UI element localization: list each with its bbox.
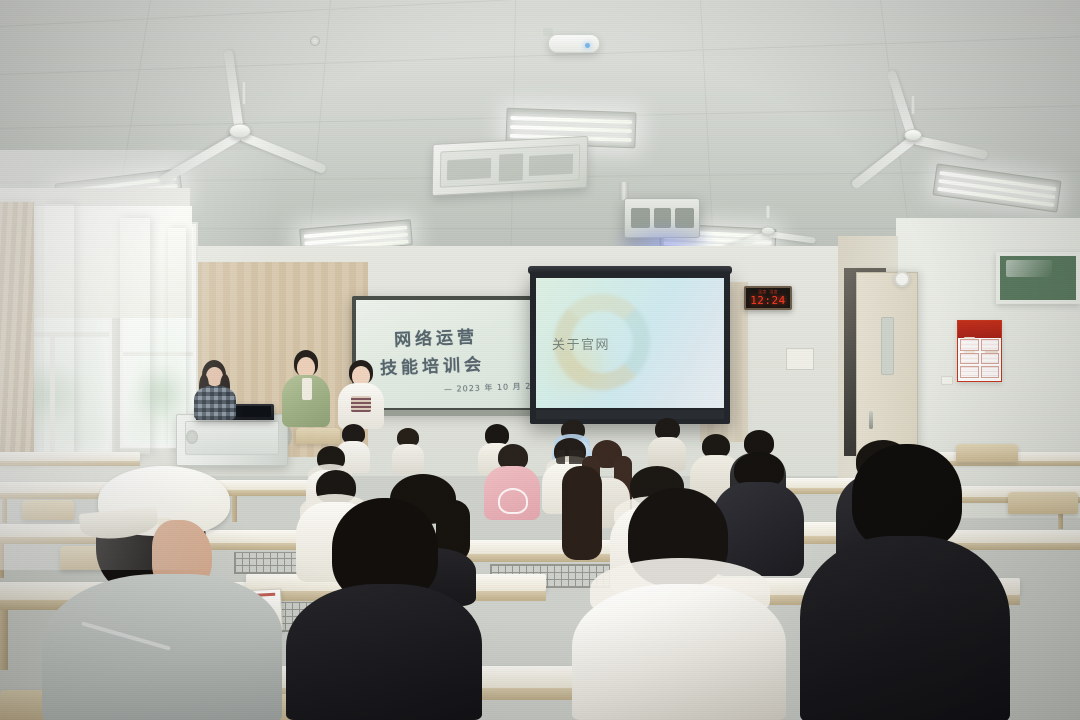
ceiling-fan-left [150, 96, 330, 166]
poster-cell [981, 339, 1000, 351]
student-back-2 [392, 428, 424, 472]
sweatshirt-graphic [351, 396, 371, 412]
light-switch[interactable] [941, 376, 953, 385]
student-row2-pink [484, 444, 540, 518]
notice-frame [786, 348, 814, 370]
student-black-jacket [286, 584, 482, 720]
projected-slide: 关于官网 [536, 278, 724, 408]
classroom-scene: 网络运营 技能培训会 — 2023 年 10 月 23 日 关于官网 温度 湿度… [0, 0, 1080, 720]
led-clock-top-label: 温度 湿度 [749, 289, 787, 295]
classroom-door[interactable] [856, 272, 918, 462]
poster-cell [960, 366, 979, 378]
curtain-left-inner[interactable] [120, 218, 150, 454]
wall-schedule-poster [957, 320, 1002, 382]
wall-clock [894, 271, 910, 287]
student-foreground-black-left [286, 498, 482, 720]
student-white-hoodie-body [572, 584, 786, 720]
podium-speaker [186, 430, 198, 444]
whiteboard-line-2: 技能培训会 [380, 350, 486, 379]
ac-cassette-unit [432, 136, 589, 196]
ceiling-fan-right [838, 106, 988, 164]
curtain-left-middle[interactable] [44, 204, 74, 456]
sprinkler-head [310, 36, 320, 46]
student-right-hair [852, 444, 962, 550]
led-clock-time: 12:24 [750, 295, 786, 306]
door-window [881, 317, 894, 375]
wifi-status-led [585, 43, 590, 48]
presenter-torso-plaid [194, 386, 236, 420]
ceiling-fan-center [718, 214, 818, 248]
curtain-left-outer[interactable] [0, 202, 34, 464]
student-right-jacket [800, 536, 1010, 720]
pink-top-graphic [498, 488, 528, 514]
poster-cell [981, 366, 1000, 378]
student-foreground-cap [42, 466, 282, 720]
poster-cell [981, 353, 1000, 365]
student-foreground-black-right [800, 444, 1010, 720]
poster-cell [960, 339, 979, 351]
presenter-right [338, 360, 384, 428]
student-foreground-white-hoodie [572, 488, 786, 720]
chair-right-mid [1008, 492, 1078, 520]
student-back-5 [648, 418, 686, 470]
door-handle[interactable] [869, 411, 873, 429]
interior-window [996, 252, 1080, 304]
poster-header [958, 321, 1001, 338]
presenter-center [282, 350, 330, 428]
whiteboard-line-1: 网络运营 [394, 322, 479, 350]
poster-cell [960, 353, 979, 365]
presenter-at-podium [192, 360, 236, 418]
led-wall-clock: 温度 湿度 12:24 [744, 286, 792, 310]
projection-screen: 关于官网 [530, 272, 730, 424]
slide-title: 关于官网 [552, 334, 610, 353]
